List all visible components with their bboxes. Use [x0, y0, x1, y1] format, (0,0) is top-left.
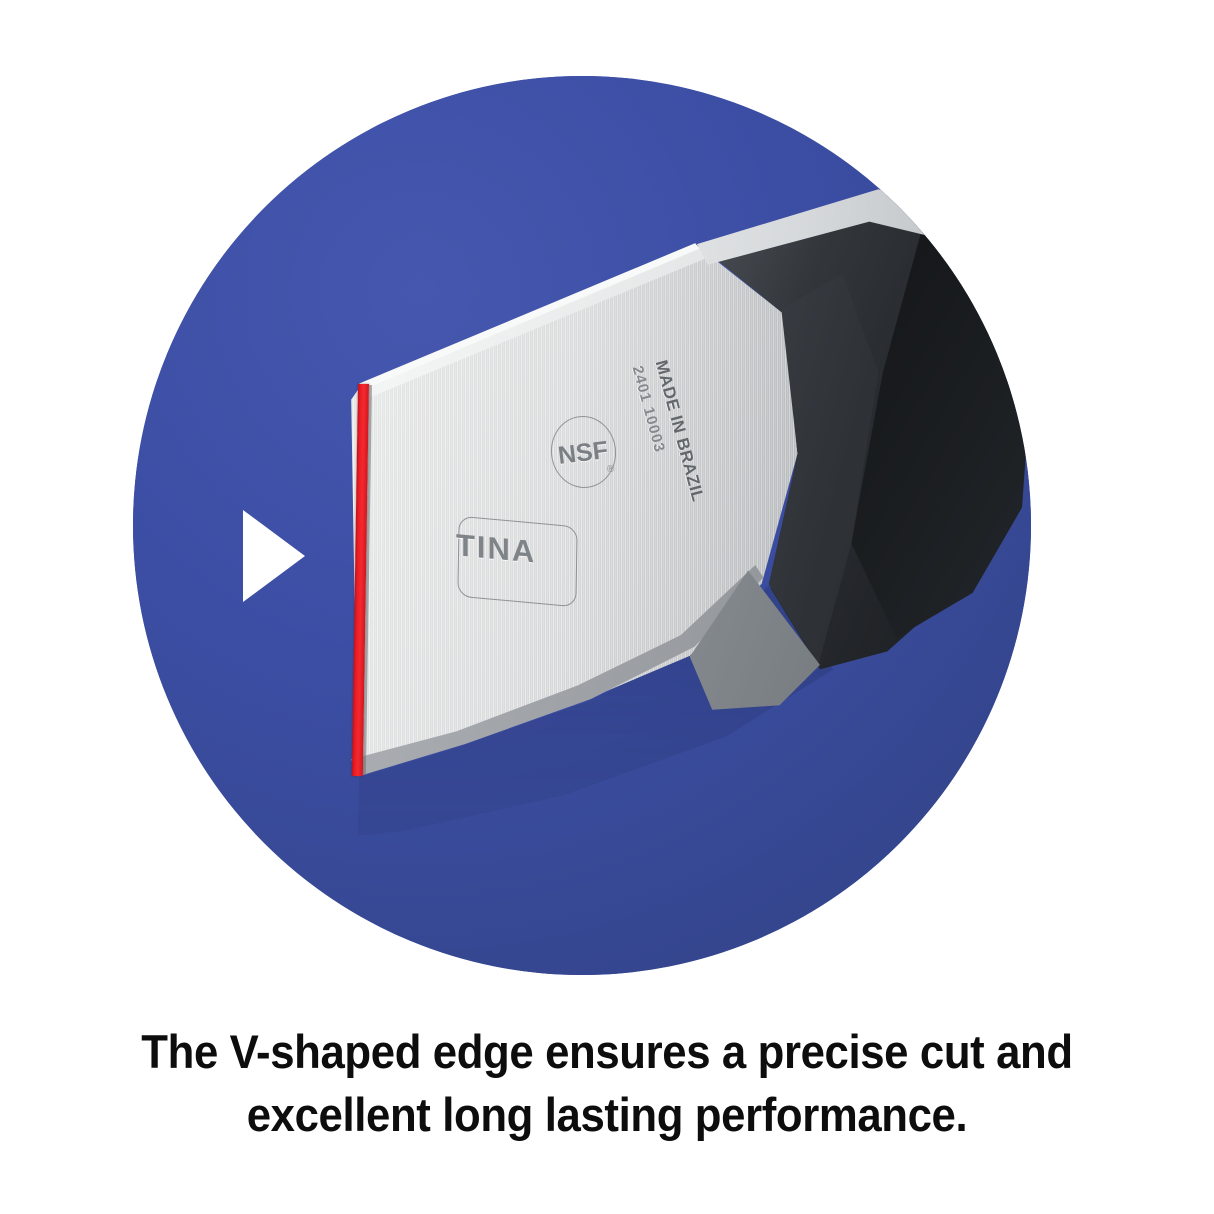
- caption-line-2: excellent long lasting performance.: [98, 1083, 1115, 1146]
- product-feature-caption: The V-shaped edge ensures a precise cut …: [98, 1020, 1115, 1146]
- play-video-button[interactable]: [243, 510, 305, 602]
- brand-wordmark-partial: TINA: [456, 527, 536, 570]
- caption-line-1: The V-shaped edge ensures a precise cut …: [98, 1020, 1115, 1083]
- play-triangle-icon: [243, 510, 305, 602]
- registered-mark-icon: ®: [606, 464, 615, 476]
- product-video-card: TINA NSF ® 2401 10003 MADE IN BRAZIL The…: [0, 0, 1214, 1214]
